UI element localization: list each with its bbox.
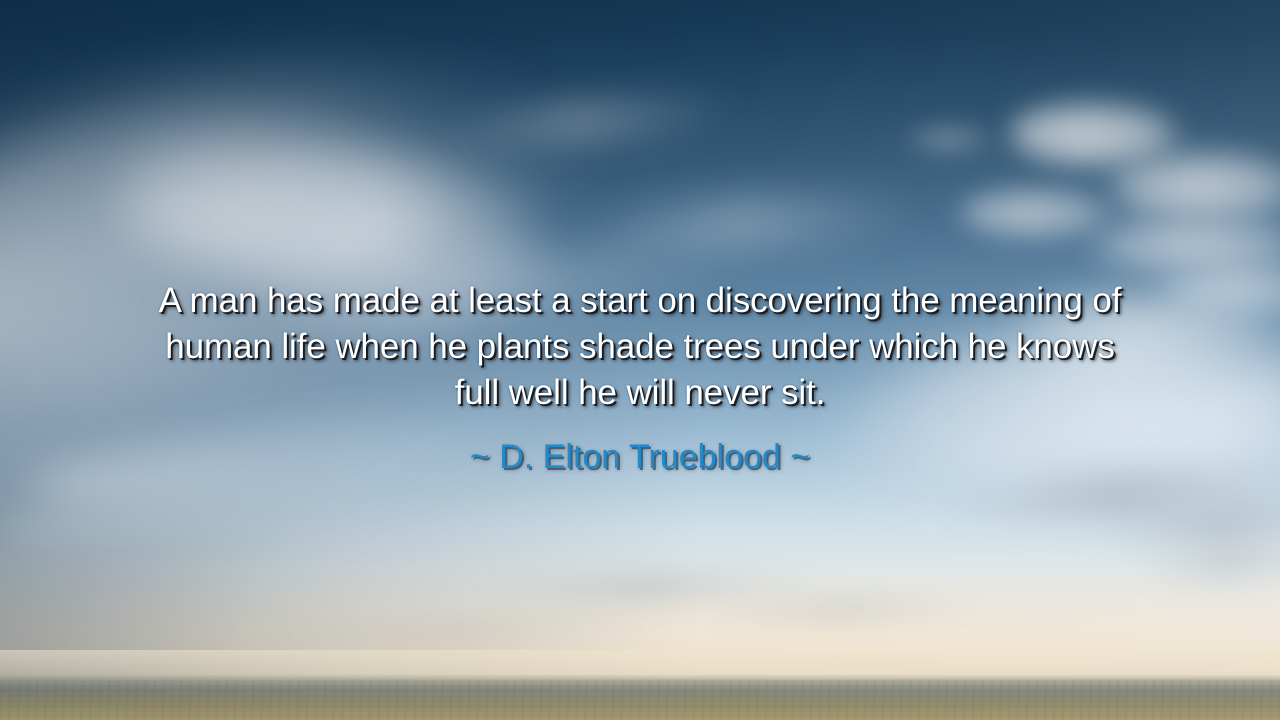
quote-image-canvas: A man has made at least a start on disco… — [0, 0, 1280, 720]
quote-text: A man has made at least a start on disco… — [40, 278, 1240, 416]
quote-block: A man has made at least a start on disco… — [0, 278, 1280, 478]
ground-texture — [0, 680, 1280, 720]
quote-attribution: ~ D. Elton Trueblood ~ — [40, 416, 1240, 478]
